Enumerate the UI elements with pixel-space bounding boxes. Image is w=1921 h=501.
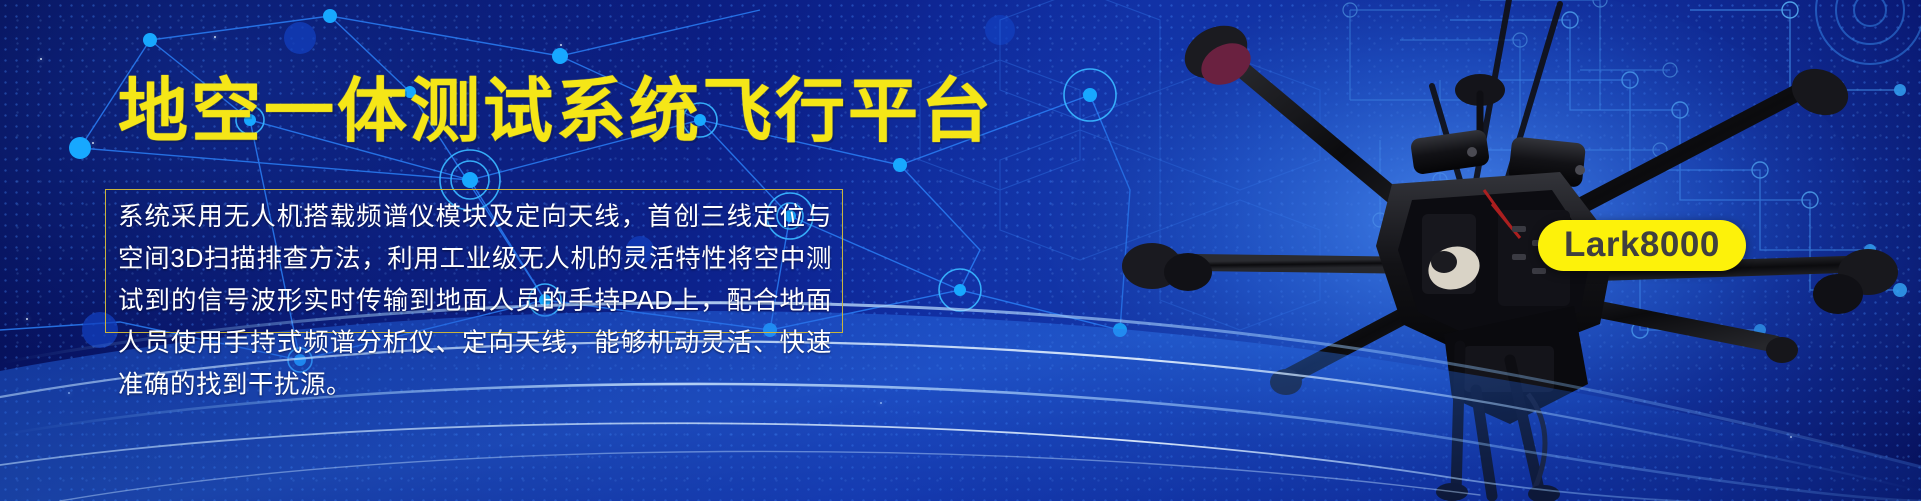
description-text: 系统采用无人机搭载频谱仪模块及定向天线，首创三线定位与空间3D扫描排查方法，利用… bbox=[118, 196, 832, 406]
model-name-badge: Lark8000 bbox=[1538, 220, 1746, 271]
hexagon-wireframe-graphic bbox=[880, 0, 1700, 410]
description-box: 系统采用无人机搭载频谱仪模块及定向天线，首创三线定位与空间3D扫描排查方法，利用… bbox=[105, 189, 843, 333]
circuit-radar-graphic bbox=[1430, 0, 1921, 420]
page-title: 地空一体测试系统飞行平台 bbox=[118, 76, 994, 146]
drone-product-image bbox=[1040, 0, 1920, 501]
product-banner: 地空一体测试系统飞行平台 系统采用无人机搭载频谱仪模块及定向天线，首创三线定位与… bbox=[0, 0, 1921, 501]
